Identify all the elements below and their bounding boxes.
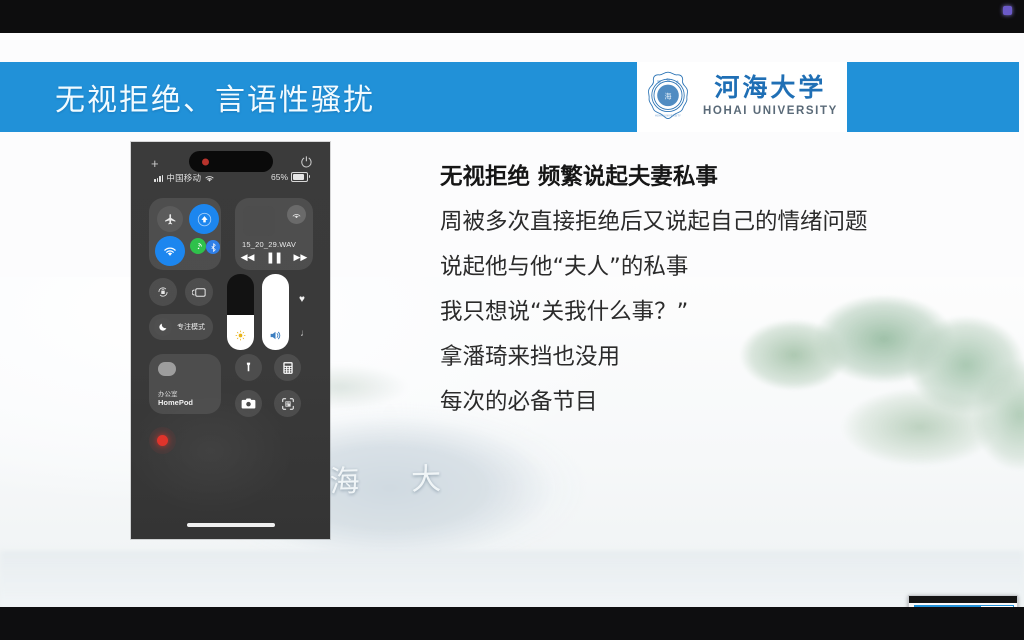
media-track-title: 15_20_29.WAV [242, 240, 296, 249]
volume-slider[interactable] [262, 274, 289, 350]
code-scanner-button[interactable] [274, 390, 301, 417]
screen-record-dot-icon [1003, 6, 1012, 15]
flashlight-icon [242, 361, 255, 374]
body-line-2: 周被多次直接拒绝后又说起自己的情绪问题 [440, 200, 980, 245]
fast-forward-button[interactable]: ▶▶ [293, 252, 307, 263]
connectivity-module [149, 198, 221, 270]
phone-status-bar: 中国移动 65% [131, 171, 330, 186]
slide-body-text: 无视拒绝 频繁说起夫妻私事 周被多次直接拒绝后又说起自己的情绪问题 说起他与他“… [440, 155, 980, 425]
hearing-heart-icon[interactable]: ♥ [299, 294, 305, 305]
airplane-icon [164, 213, 177, 226]
signal-bars-icon [154, 174, 163, 182]
brightness-slider[interactable] [227, 274, 254, 350]
cellular-icon [194, 242, 203, 251]
media-transport-controls: ◀◀ ❚❚ ▶▶ [235, 251, 313, 264]
carrier-label: 中国移动 [166, 172, 201, 184]
photo-ground [0, 551, 1024, 607]
brightness-icon [235, 330, 246, 341]
home-accessory-tile[interactable]: 办公室 HomePod [149, 354, 221, 414]
home-indicator [187, 523, 275, 527]
bluetooth-icon [210, 243, 217, 252]
wifi-icon [162, 245, 178, 258]
focus-moon-icon-wrap [154, 318, 172, 336]
moon-icon [158, 322, 168, 332]
slide-header-band: 无视拒绝、言语性骚扰 [0, 62, 1019, 132]
status-bar-left: 中国移动 [154, 172, 215, 184]
rewind-button[interactable]: ◀◀ [241, 252, 255, 263]
flashlight-button[interactable] [235, 354, 262, 381]
brightness-icon-wrap [227, 330, 254, 341]
airplane-mode-button[interactable] [157, 206, 183, 232]
calculator-button[interactable] [274, 354, 301, 381]
pause-button[interactable]: ❚❚ [266, 251, 282, 264]
dynamic-island [189, 151, 273, 172]
body-line-5: 拿潘琦来挡也没用 [440, 335, 980, 380]
logo-wordmark: 河海大学 HOHAI UNIVERSITY [703, 76, 838, 118]
bottom-letterbox-bar [0, 607, 1024, 640]
volume-icon-wrap [262, 330, 289, 341]
record-dot-icon [157, 435, 168, 446]
homepod-glyph-icon [158, 362, 176, 376]
svg-text:HOHAI UNIVERSITY: HOHAI UNIVERSITY [655, 114, 681, 117]
screen-mirroring-icon [192, 286, 207, 299]
camera-icon [241, 397, 256, 410]
focus-mode-button[interactable]: 专注模式 [149, 314, 213, 340]
screen-mirroring-button[interactable] [185, 278, 213, 306]
airdrop-button[interactable] [189, 204, 219, 234]
video-player-screen: 河 海 大 无视拒绝、言语性骚扰 海 河海大 [0, 0, 1024, 640]
add-widget-icon[interactable]: + [151, 157, 159, 170]
page-title: 无视拒绝、言语性骚扰 [55, 75, 375, 119]
presentation-slide: 河 海 大 无视拒绝、言语性骚扰 海 河海大 [0, 33, 1024, 607]
code-scanner-icon [281, 397, 295, 411]
screen-record-button[interactable] [149, 427, 176, 454]
calculator-icon [281, 361, 295, 375]
logo-chinese-name: 河海大学 [714, 76, 826, 101]
pip-slide-thumbnail[interactable]: 无视拒绝、言语性骚扰 [908, 595, 1018, 607]
wifi-icon [204, 174, 215, 183]
pip-top-bar [909, 596, 1017, 603]
bluetooth-button[interactable] [206, 240, 220, 254]
wifi-button[interactable] [155, 236, 185, 266]
phone-control-center-screenshot: + ⏻ 中国移动 65% [131, 142, 330, 539]
top-letterbox-bar [0, 0, 1024, 33]
body-line-1: 无视拒绝 频繁说起夫妻私事 [440, 155, 980, 200]
home-device-label: HomePod [158, 398, 193, 407]
svg-text:河: 河 [657, 80, 661, 85]
body-line-3: 说起他与他“夫人”的私事 [440, 245, 980, 290]
rotation-lock-button[interactable] [149, 278, 177, 306]
media-playback-module: 15_20_29.WAV ◀◀ ❚❚ ▶▶ [235, 198, 313, 270]
university-seal-icon: 海 河海大 HOHAI UNIVERSITY [641, 70, 695, 124]
camera-button[interactable] [235, 390, 262, 417]
airdrop-icon [197, 212, 212, 227]
battery-percent-label: 65% [271, 172, 288, 182]
airplay-button[interactable] [287, 205, 306, 224]
body-line-4: 我只想说“关我什么事？” [440, 290, 980, 335]
svg-text:海: 海 [664, 92, 671, 101]
media-artwork [243, 206, 275, 236]
body-line-6: 每次的必备节目 [440, 380, 980, 425]
battery-icon [291, 172, 308, 182]
focus-mode-label: 专注模式 [177, 322, 205, 332]
status-bar-right: 65% [271, 172, 308, 182]
rotation-lock-icon [156, 285, 170, 299]
music-note-icon[interactable]: ♩ [300, 328, 310, 339]
power-icon[interactable]: ⏻ [301, 155, 312, 169]
cellular-data-button[interactable] [190, 238, 206, 254]
svg-text:大: 大 [675, 80, 679, 85]
home-room-label: 办公室 [158, 388, 178, 398]
logo-english-name: HOHAI UNIVERSITY [703, 106, 838, 118]
volume-icon [269, 330, 282, 341]
recording-indicator-icon [202, 158, 209, 165]
university-logo: 海 河海大 HOHAI UNIVERSITY 河海大学 HOHAI UNIVER… [637, 62, 847, 132]
svg-text:海: 海 [666, 77, 670, 82]
airplay-icon [291, 209, 302, 220]
